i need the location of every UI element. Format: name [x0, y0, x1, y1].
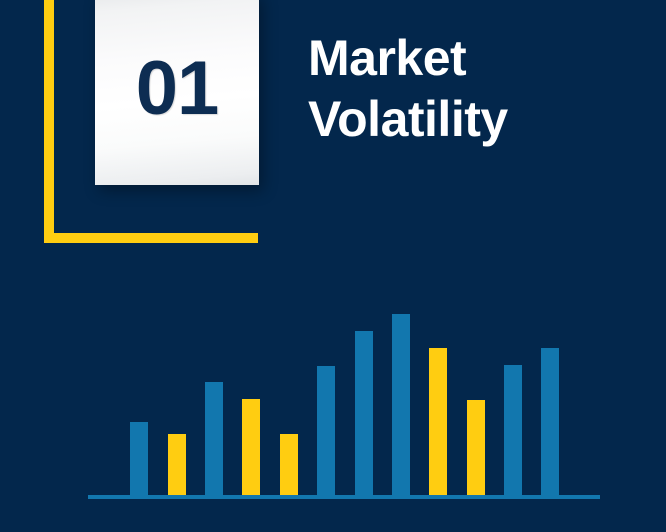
- bar-chart: [88, 300, 600, 500]
- bar-chart-bar: [242, 399, 260, 495]
- accent-frame-vertical-stroke: [44, 0, 54, 243]
- slide-canvas: 01 Market Volatility: [0, 0, 666, 532]
- bar-chart-bar: [392, 314, 410, 495]
- bar-chart-baseline: [88, 495, 600, 499]
- bar-chart-bar: [504, 365, 522, 495]
- bar-chart-bar: [467, 400, 485, 495]
- bar-chart-bar: [541, 348, 559, 495]
- bar-chart-bar: [168, 434, 186, 495]
- section-number-text: 01: [136, 51, 219, 127]
- bar-chart-bar: [317, 366, 335, 495]
- bar-chart-bar: [280, 434, 298, 495]
- title-line-1: Market: [308, 28, 638, 89]
- bar-chart-bar: [355, 331, 373, 495]
- title-line-2: Volatility: [308, 89, 638, 150]
- accent-frame-horizontal-stroke: [44, 233, 258, 243]
- bar-chart-bar: [429, 348, 447, 495]
- bar-chart-bar: [130, 422, 148, 495]
- slide-title: Market Volatility: [308, 28, 638, 150]
- section-number-card: 01: [95, 0, 259, 185]
- bar-chart-plot-area: [88, 300, 600, 495]
- bar-chart-bar: [205, 382, 223, 495]
